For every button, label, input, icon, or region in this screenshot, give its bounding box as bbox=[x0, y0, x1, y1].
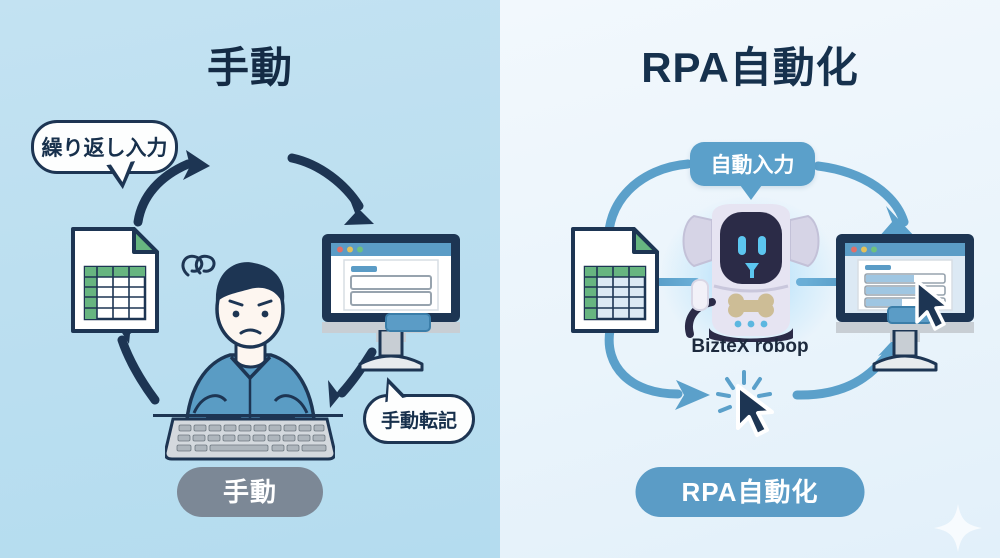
repeat-input-bubble: 繰り返し入力 bbox=[31, 120, 178, 174]
manual-panel: 手動 bbox=[0, 0, 500, 558]
repeat-input-bubble-text: 繰り返し入力 bbox=[42, 132, 168, 162]
bubble-tail-inner bbox=[110, 160, 135, 184]
rpa-pill-label: RPA自動化 bbox=[636, 467, 865, 517]
cursor-icon bbox=[912, 278, 954, 334]
robot-icon bbox=[676, 202, 826, 342]
auto-input-bubble: 自動入力 bbox=[690, 142, 815, 186]
cursor-click-icon bbox=[710, 370, 792, 442]
spreadsheet-icon bbox=[68, 224, 162, 336]
manual-copy-bubble: 手動転記 bbox=[363, 394, 475, 444]
manual-copy-bubble-text: 手動転記 bbox=[381, 406, 457, 433]
bubble-tail bbox=[740, 185, 762, 200]
auto-input-bubble-text: 自動入力 bbox=[711, 149, 795, 179]
keyboard-icon bbox=[165, 413, 335, 461]
form-submit-button[interactable] bbox=[385, 313, 431, 332]
spreadsheet-icon bbox=[568, 224, 662, 336]
comparison-infographic: 手動 bbox=[0, 0, 1000, 558]
manual-panel-title: 手動 bbox=[0, 34, 500, 95]
sparkle-icon bbox=[930, 500, 986, 556]
monitor-stand-icon bbox=[318, 330, 464, 374]
monitor-stand-icon bbox=[832, 330, 978, 374]
monitor-icon bbox=[832, 230, 978, 342]
arrow-down-right-icon bbox=[292, 158, 374, 225]
rpa-panel-title: RPA自動化 bbox=[500, 34, 1000, 95]
rpa-panel: RPA自動化 bbox=[500, 0, 1000, 558]
manual-pill-label: 手動 bbox=[177, 467, 323, 517]
